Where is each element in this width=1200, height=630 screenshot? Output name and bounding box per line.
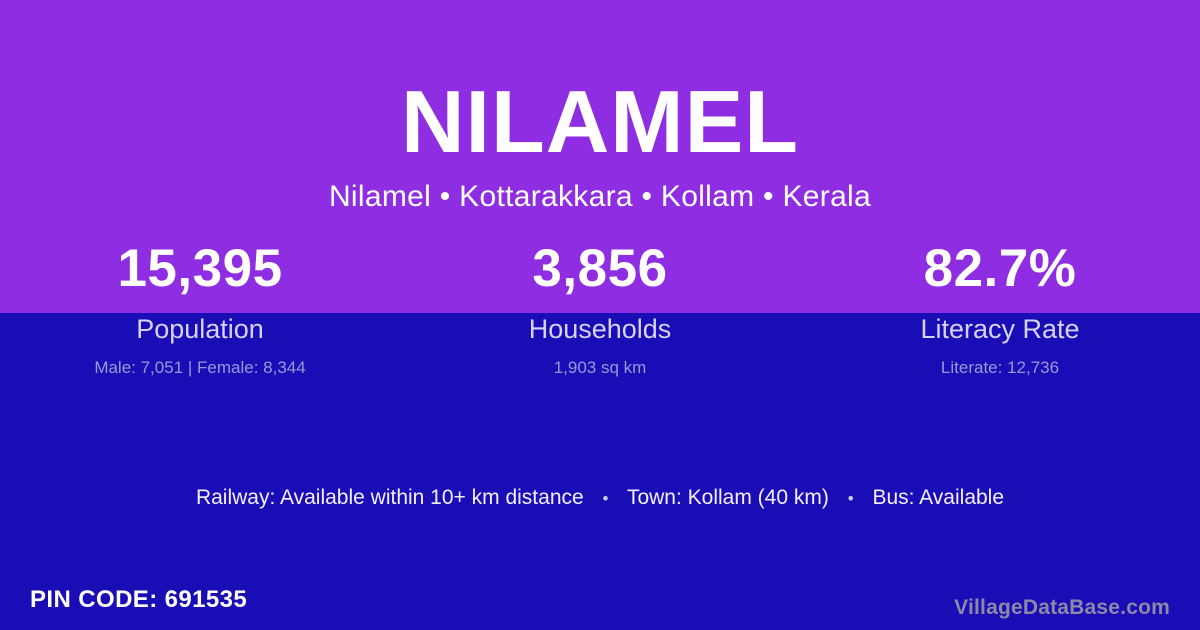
stat-detail-population: Male: 7,051 | Female: 8,344: [0, 359, 400, 376]
village-data-card: NILAMEL Nilamel • Kottarakkara • Kollam …: [0, 0, 1200, 630]
breadcrumb: Nilamel • Kottarakkara • Kollam • Kerala: [0, 166, 1200, 212]
pin-code: PIN CODE: 691535: [30, 588, 247, 612]
info-railway: Railway: Available within 10+ km distanc…: [196, 486, 584, 509]
stat-literacy-rate: 82.7% Literacy Rate Literate: 12,736: [800, 242, 1200, 376]
amenities-info-line: Railway: Available within 10+ km distanc…: [0, 487, 1200, 508]
card-header: NILAMEL Nilamel • Kottarakkara • Kollam …: [0, 0, 1200, 212]
stat-value-population: 15,395: [0, 242, 400, 295]
stat-detail-households: 1,903 sq km: [400, 359, 800, 376]
stat-label-population: Population: [0, 316, 400, 343]
brand-watermark: VillageDataBase.com: [954, 597, 1170, 618]
bullet-separator-icon: •: [590, 490, 622, 507]
info-town: Town: Kollam (40 km): [627, 486, 829, 509]
card-footer: PIN CODE: 691535 VillageDataBase.com: [0, 558, 1200, 630]
info-bus: Bus: Available: [872, 486, 1004, 509]
stat-value-literacy-rate: 82.7%: [800, 242, 1200, 295]
page-title: NILAMEL: [0, 0, 1200, 166]
stat-label-households: Households: [400, 316, 800, 343]
bullet-separator-icon: •: [835, 490, 867, 507]
stats-row: 15,395 Population Male: 7,051 | Female: …: [0, 242, 1200, 376]
stat-population: 15,395 Population Male: 7,051 | Female: …: [0, 242, 400, 376]
stat-value-households: 3,856: [400, 242, 800, 295]
stat-label-literacy-rate: Literacy Rate: [800, 316, 1200, 343]
stat-households: 3,856 Households 1,903 sq km: [400, 242, 800, 376]
stat-detail-literacy-rate: Literate: 12,736: [800, 359, 1200, 376]
